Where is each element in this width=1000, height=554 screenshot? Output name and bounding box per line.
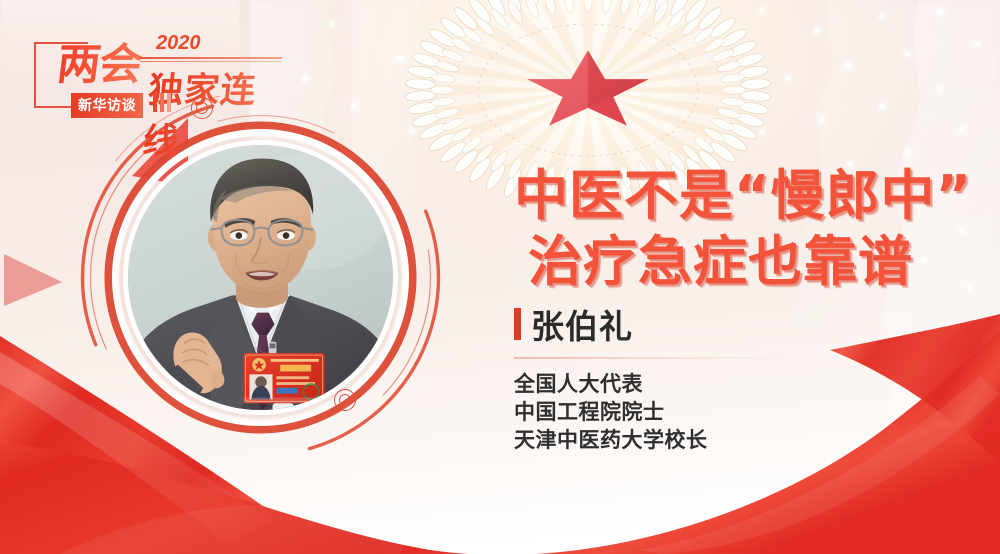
guest-name-row: 张伯礼	[514, 300, 844, 348]
guest-titles: 全国人大代表 中国工程院院士 天津中医药大学校长	[514, 370, 844, 454]
guest-name: 张伯礼	[531, 300, 633, 348]
guest-title-0: 全国人大代表	[514, 370, 844, 398]
headline-line-1: 中医不是“慢郎中”	[514, 164, 972, 227]
triangle-accent-left-mid	[2, 248, 64, 310]
name-divider	[514, 357, 784, 359]
guest-title-1: 中国工程院院士	[514, 398, 844, 426]
guest-info-block: 张伯礼 全国人大代表 中国工程院院士 天津中医药大学校长	[514, 300, 844, 454]
poster-canvas: 两会 2020 独家连线 新华访谈 中医不是“慢郎中” 治疗急症也靠谱 张伯礼 …	[0, 0, 1000, 554]
logo-rule-top	[140, 57, 282, 59]
portrait-photo	[128, 145, 393, 410]
logo-secondary-text: 独家连线	[141, 62, 286, 164]
logo-year: 2020	[156, 32, 201, 55]
logo-main-text: 两会	[54, 30, 146, 92]
headline-line-2: 治疗急症也靠谱	[528, 229, 972, 295]
portrait-photo-frame	[123, 140, 398, 415]
triangle-accent-right	[934, 318, 992, 364]
program-logo: 两会 2020 独家连线 新华访谈	[30, 22, 280, 112]
logo-badge: 新华访谈	[71, 93, 143, 118]
headline: 中医不是“慢郎中” 治疗急症也靠谱	[514, 163, 972, 295]
guest-title-2: 天津中医药大学校长	[514, 426, 844, 454]
name-accent-bar	[514, 308, 521, 340]
logo-bars	[153, 93, 171, 112]
